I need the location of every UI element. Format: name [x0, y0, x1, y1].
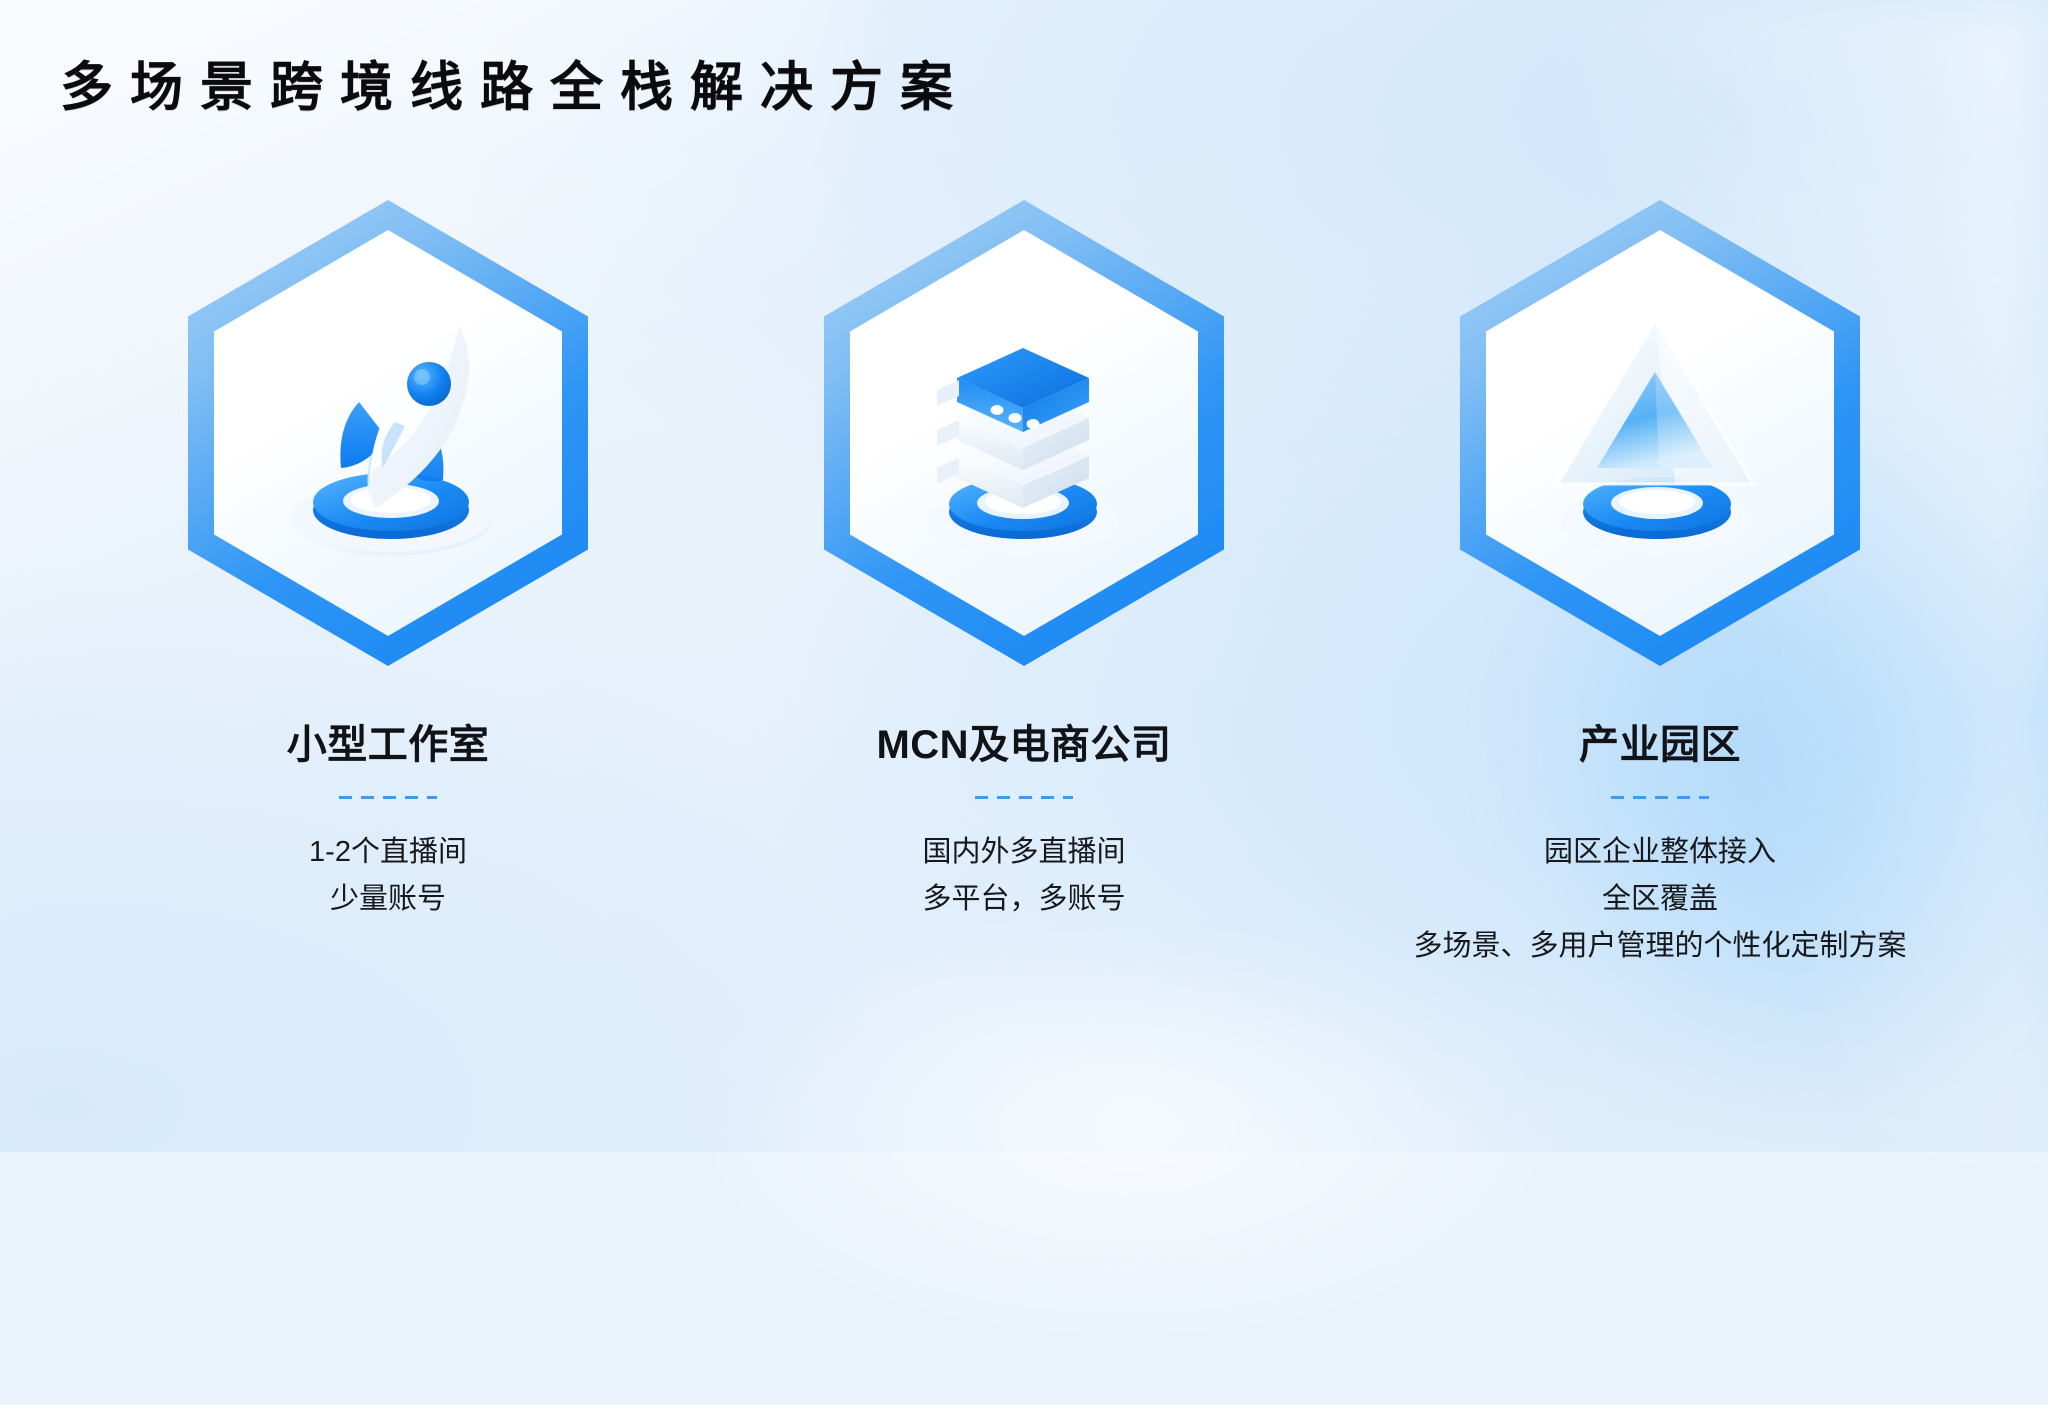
- card-mcn-ecommerce[interactable]: MCN及电商公司 国内外多直播间 多平台，多账号: [799, 200, 1249, 970]
- card-description: 1-2个直播间 少量账号: [309, 829, 467, 923]
- card-divider: [339, 796, 437, 799]
- card-title: MCN及电商公司: [876, 712, 1171, 770]
- card-description-line: 园区企业整体接入: [1414, 829, 1907, 876]
- card-description: 园区企业整体接入 全区覆盖 多场景、多用户管理的个性化定制方案: [1414, 829, 1907, 970]
- card-description-line: 全区覆盖: [1414, 876, 1907, 923]
- hexagon-badge: [188, 200, 588, 666]
- card-industrial-park[interactable]: 产业园区 园区企业整体接入 全区覆盖 多场景、多用户管理的个性化定制方案: [1435, 200, 1885, 970]
- server-stack-icon: [824, 200, 1224, 666]
- card-description-line: 国内外多直播间: [922, 829, 1125, 876]
- pyramid-icon: [1460, 200, 1860, 666]
- card-title: 产业园区: [1579, 712, 1741, 770]
- hexagon-badge: [1460, 200, 1860, 666]
- card-description-line: 多平台，多账号: [922, 876, 1125, 923]
- card-divider: [1611, 796, 1709, 799]
- card-description-line: 1-2个直播间: [309, 829, 467, 876]
- hexagon-badge: [824, 200, 1224, 666]
- solution-cards-row: 小型工作室 1-2个直播间 少量账号: [0, 200, 2048, 970]
- page-title: 多场景跨境线路全栈解决方案: [60, 58, 970, 119]
- card-small-studio[interactable]: 小型工作室 1-2个直播间 少量账号: [163, 200, 613, 970]
- rocket-icon: [188, 200, 588, 666]
- card-divider: [975, 796, 1073, 799]
- card-description-line: 少量账号: [309, 876, 467, 923]
- card-title: 小型工作室: [287, 712, 490, 770]
- card-description-line: 多场景、多用户管理的个性化定制方案: [1414, 923, 1907, 970]
- card-description: 国内外多直播间 多平台，多账号: [922, 829, 1125, 923]
